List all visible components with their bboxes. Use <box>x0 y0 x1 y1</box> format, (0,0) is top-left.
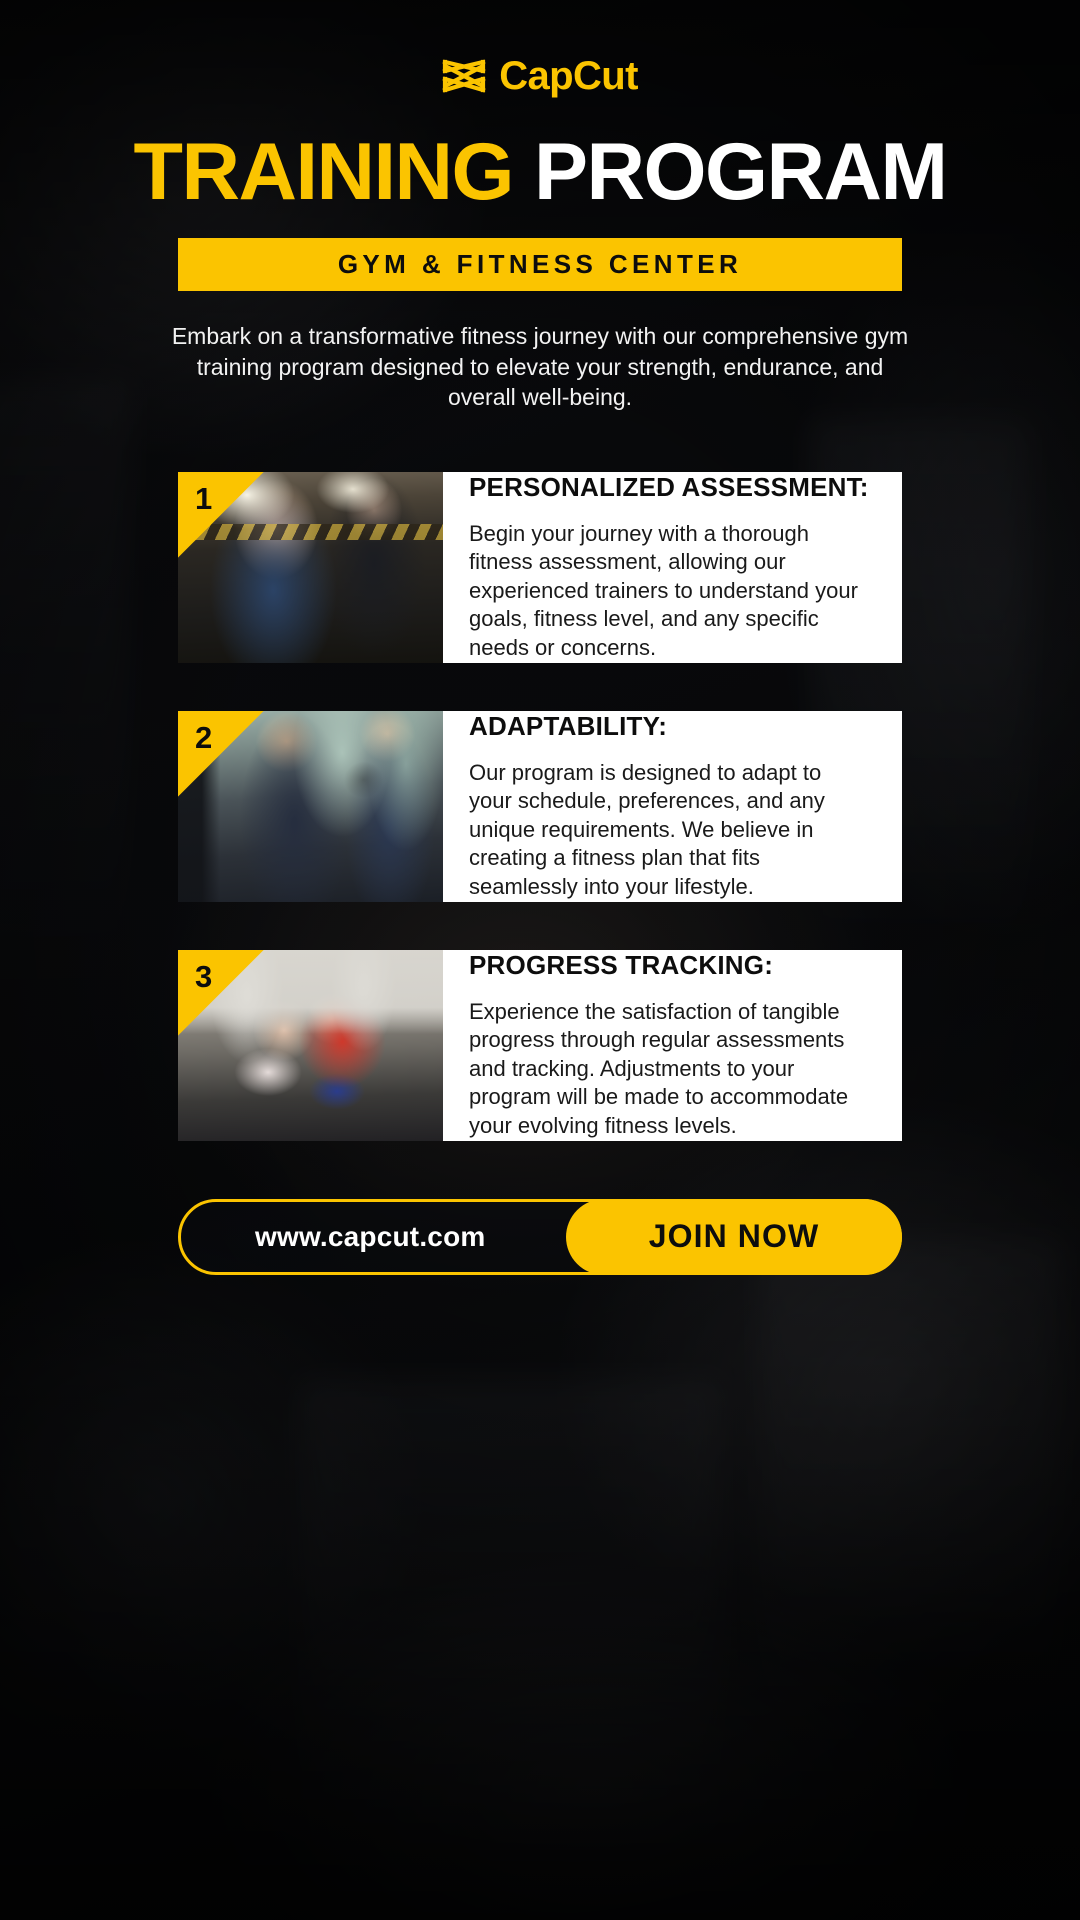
website-url: www.capcut.com <box>255 1221 485 1253</box>
brand-logo[interactable]: CapCut <box>0 0 1080 96</box>
title-part-1: TRAINING <box>134 127 513 217</box>
step-body: ADAPTABILITY: Our program is designed to… <box>443 711 902 902</box>
header: CapCut TRAINING PROGRAM GYM & FITNESS CE… <box>0 0 1080 413</box>
subtitle-text: GYM & FITNESS CENTER <box>338 249 742 280</box>
join-now-label: JOIN NOW <box>649 1218 820 1255</box>
brand-name: CapCut <box>499 56 638 96</box>
intro-paragraph: Embark on a transformative fitness journ… <box>170 321 910 413</box>
step-heading: PERSONALIZED ASSESSMENT: <box>469 472 869 503</box>
step-text: Our program is designed to adapt to your… <box>469 759 869 902</box>
poster: CapCut TRAINING PROGRAM GYM & FITNESS CE… <box>0 0 1080 1920</box>
step-card: 1 PERSONALIZED ASSESSMENT: Begin your jo… <box>178 472 902 663</box>
step-text: Begin your journey with a thorough fitne… <box>469 520 869 663</box>
step-body: PERSONALIZED ASSESSMENT: Begin your jour… <box>443 472 902 663</box>
subtitle-banner: GYM & FITNESS CENTER <box>178 238 902 291</box>
step-heading: PROGRESS TRACKING: <box>469 950 869 981</box>
title-part-2: PROGRAM <box>534 127 947 217</box>
steps-list: 1 PERSONALIZED ASSESSMENT: Begin your jo… <box>0 472 1080 1141</box>
join-now-button[interactable]: JOIN NOW <box>566 1199 902 1275</box>
step-card: 2 ADAPTABILITY: Our program is designed … <box>178 711 902 902</box>
step-number: 3 <box>195 961 212 992</box>
step-body: PROGRESS TRACKING: Experience the satisf… <box>443 950 902 1141</box>
step-card: 3 PROGRESS TRACKING: Experience the sati… <box>178 950 902 1141</box>
step-text: Experience the satisfaction of tangible … <box>469 998 869 1141</box>
capcut-logo-icon <box>442 57 486 95</box>
step-heading: ADAPTABILITY: <box>469 711 869 742</box>
page-title: TRAINING PROGRAM <box>0 134 1080 211</box>
footer-cta: www.capcut.com JOIN NOW <box>178 1199 902 1275</box>
step-number: 2 <box>195 722 212 753</box>
step-number: 1 <box>195 483 212 514</box>
